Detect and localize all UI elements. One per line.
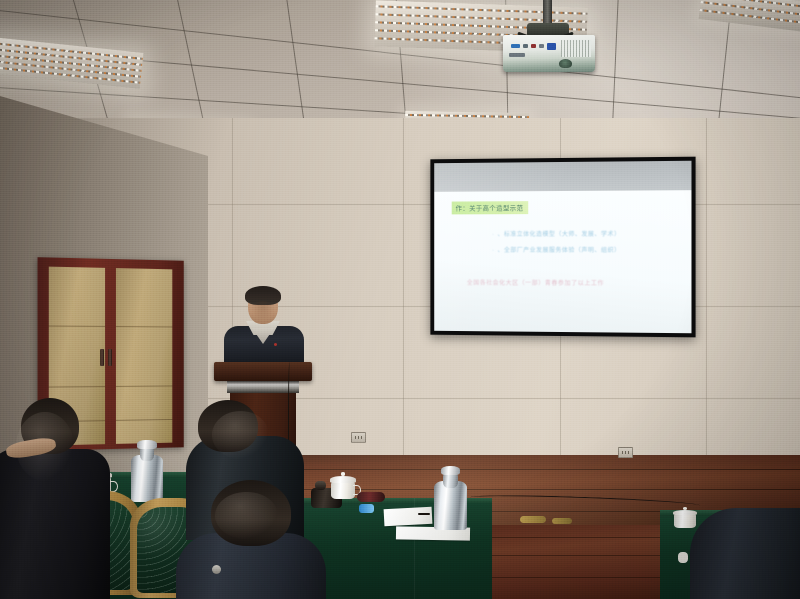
- ceiling-light-fixture: [0, 37, 143, 88]
- slide-bullet-1: ·、标准立体化造模型（大师、发展、学术）: [492, 229, 620, 238]
- wall-outlet-left[interactable]: [351, 432, 366, 443]
- bullet-marker: ·: [492, 232, 494, 238]
- slide-content: 作：关于高个造型示范 ·、标准立体化造模型（大师、发展、学术） ·、全部厂产业发…: [434, 190, 691, 333]
- floor-cable-cover: [552, 518, 572, 524]
- attendee-right: [690, 508, 800, 599]
- bullet-marker: ·: [492, 247, 494, 253]
- floor-cable-cover: [520, 516, 546, 523]
- projector-hdmi-port: [547, 43, 556, 50]
- teacup[interactable]: [331, 475, 355, 499]
- lectern-top: [214, 362, 312, 381]
- projector-port: [509, 53, 525, 57]
- projection-screen: 作：关于高个造型示范 ·、标准立体化造模型（大师、发展、学术） ·、全部厂产业发…: [430, 157, 695, 338]
- attendee-center-front: [176, 480, 326, 599]
- blue-case[interactable]: [359, 504, 374, 513]
- door-leaf-right[interactable]: [116, 268, 172, 444]
- projector-port: [523, 44, 528, 48]
- projector-lens: [559, 59, 572, 68]
- door-handle-left[interactable]: [100, 349, 104, 366]
- paper-scrap: [678, 552, 688, 563]
- slide-bullet-2: ·、全部厂产业发展服务体验（声明、组织）: [492, 244, 620, 253]
- eyeglasses[interactable]: [357, 492, 385, 502]
- projector-port: [539, 44, 544, 48]
- pen[interactable]: [418, 513, 430, 515]
- attendee-left-foreground: [0, 396, 110, 599]
- paper-sheet[interactable]: [384, 507, 433, 526]
- presenter-lapel-pin: [274, 343, 277, 346]
- presenter-face: [251, 301, 275, 320]
- slide-note: 全国各社会化大区（一部）青春参加了以上工作: [467, 278, 604, 288]
- ceiling-projector: [503, 35, 595, 72]
- projector-port: [531, 44, 536, 48]
- door-handle-right[interactable]: [108, 349, 112, 366]
- slide-title: 作：关于高个造型示范: [452, 201, 529, 214]
- presenter: [222, 288, 306, 368]
- screen-surface: 作：关于高个造型示范 ·、标准立体化造模型（大师、发展、学术） ·、全部厂产业发…: [434, 161, 691, 333]
- screen-blank-band: [434, 161, 691, 192]
- projector-vent: [561, 40, 591, 57]
- conference-room-photo: 作：关于高个造型示范 ·、标准立体化造模型（大师、发展、学术） ·、全部厂产业发…: [0, 0, 800, 599]
- thermos-flask[interactable]: [434, 466, 467, 530]
- projector-mount-pole: [543, 0, 552, 25]
- jacket-button: [212, 565, 221, 574]
- wall-outlet-right[interactable]: [618, 447, 633, 458]
- projector-vga-port: [511, 44, 520, 48]
